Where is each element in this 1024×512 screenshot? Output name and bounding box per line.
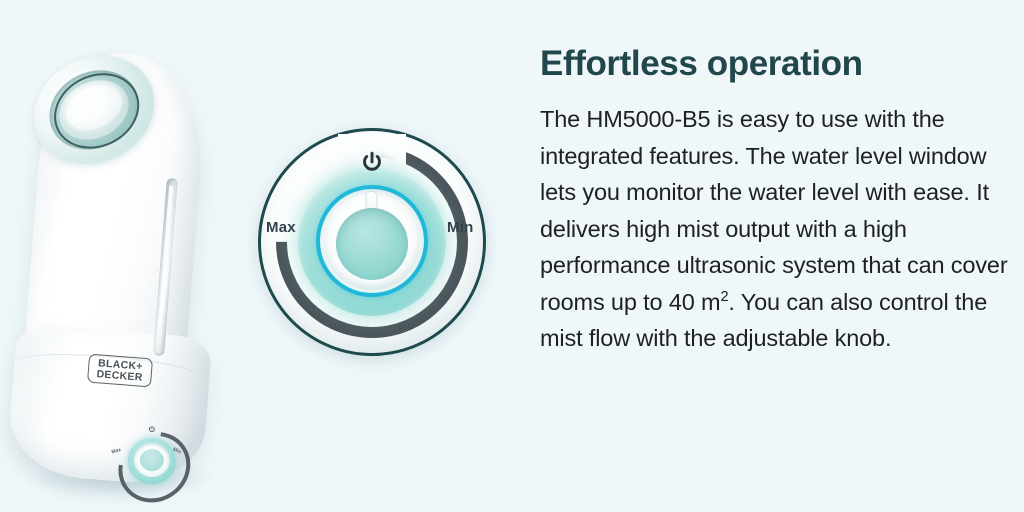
- body-text-part1: The HM5000-B5 is easy to use with the in…: [540, 106, 1008, 315]
- base-knob-max-label: Max: [111, 447, 122, 456]
- knob-min-label: Min: [447, 219, 473, 236]
- knob-max-label: Max: [266, 219, 296, 236]
- knob-center-dial[interactable]: [336, 208, 408, 280]
- humidifier-product-photo: BLACK+ DECKER Max Min: [10, 30, 250, 500]
- product-image-area: BLACK+ DECKER Max Min: [0, 0, 520, 512]
- power-icon: [147, 425, 157, 435]
- power-icon[interactable]: [359, 150, 385, 176]
- control-knob-closeup[interactable]: Max Min: [258, 128, 486, 356]
- body-paragraph: The HM5000-B5 is easy to use with the in…: [540, 101, 1010, 357]
- product-feature-banner: BLACK+ DECKER Max Min: [0, 0, 1024, 512]
- page-title: Effortless operation: [540, 44, 1024, 83]
- base-control-knob[interactable]: Max Min: [111, 422, 190, 496]
- brand-logo-line2: DECKER: [96, 369, 143, 383]
- text-content-panel: Effortless operation The HM5000-B5 is ea…: [540, 0, 1024, 512]
- brand-logo-badge: BLACK+ DECKER: [87, 354, 153, 388]
